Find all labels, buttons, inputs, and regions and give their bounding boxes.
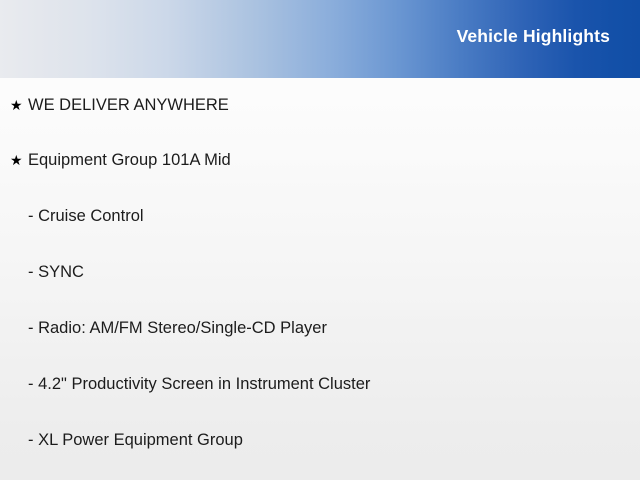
- list-item-label: - XL Power Equipment Group: [28, 432, 243, 449]
- list-item: - XL Power Equipment Group: [0, 412, 640, 468]
- list-item: - 4.2" Productivity Screen in Instrument…: [0, 356, 640, 412]
- list-item-label: Equipment Group 101A Mid: [28, 152, 231, 169]
- list-item-label: - Radio: AM/FM Stereo/Single-CD Player: [28, 320, 327, 337]
- vehicle-highlights-page: Vehicle Highlights ★ WE DELIVER ANYWHERE…: [0, 0, 640, 480]
- list-item: ★ WE DELIVER ANYWHERE: [0, 78, 640, 132]
- list-item: ★ Equipment Group 101A Mid: [0, 132, 640, 188]
- star-icon: ★: [10, 98, 28, 112]
- star-icon: ★: [10, 153, 28, 167]
- header-banner: Vehicle Highlights: [0, 0, 640, 78]
- page-title: Vehicle Highlights: [457, 28, 610, 46]
- list-item: - Cruise Control: [0, 188, 640, 244]
- list-item-label: - 4.2" Productivity Screen in Instrument…: [28, 376, 370, 393]
- list-item-label: WE DELIVER ANYWHERE: [28, 97, 229, 114]
- highlights-list: ★ WE DELIVER ANYWHERE ★ Equipment Group …: [0, 78, 640, 468]
- list-item: - Radio: AM/FM Stereo/Single-CD Player: [0, 300, 640, 356]
- list-item-label: - Cruise Control: [28, 208, 144, 225]
- list-item: - SYNC: [0, 244, 640, 300]
- list-item-label: - SYNC: [28, 264, 84, 281]
